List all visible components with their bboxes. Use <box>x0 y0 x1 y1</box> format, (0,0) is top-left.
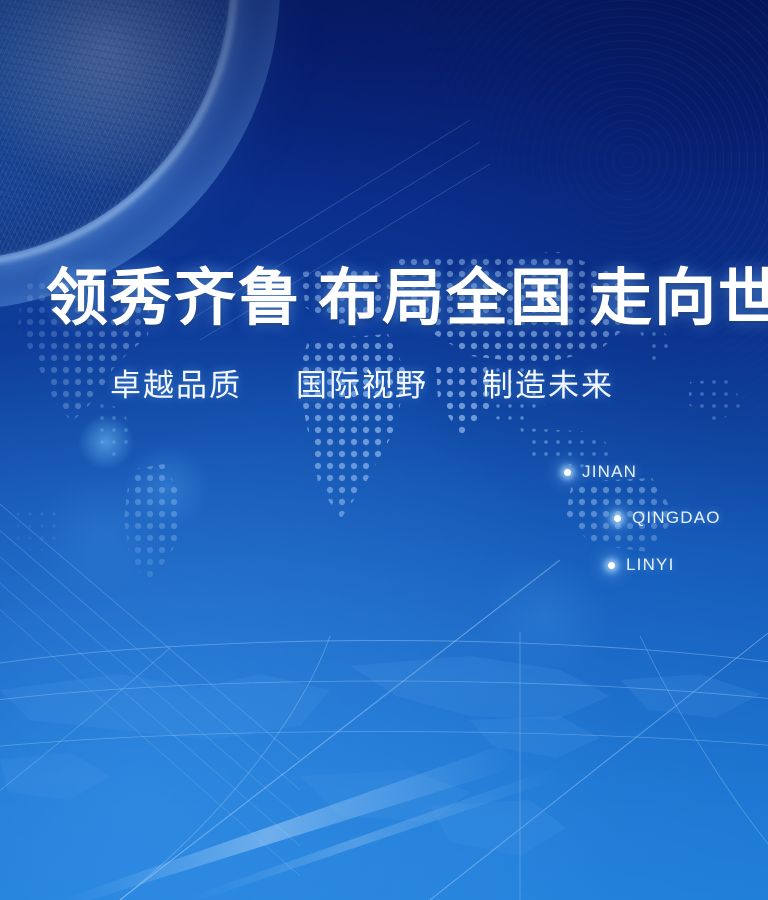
map-marker-label: LINYI <box>626 555 675 575</box>
subhead-part-3: 制造未来 <box>482 368 614 403</box>
headline-part-2: 布局全国 <box>318 265 574 333</box>
page-subtitle: 卓越品质国际视野制造未来 <box>110 370 614 401</box>
headline-part-1: 领秀齐鲁 <box>46 265 302 333</box>
location-dot-icon <box>614 515 621 522</box>
page-title: 领秀齐鲁布局全国走向世界 <box>46 268 768 330</box>
hero-banner: 领秀齐鲁布局全国走向世界 卓越品质国际视野制造未来 JINAN QINGDAO … <box>0 0 768 900</box>
map-marker-jinan[interactable]: JINAN <box>564 462 637 482</box>
headline-part-3: 走向世界 <box>590 265 768 333</box>
location-dot-icon <box>608 562 615 569</box>
subhead-part-2: 国际视野 <box>296 368 428 403</box>
map-marker-qingdao[interactable]: QINGDAO <box>614 508 721 528</box>
location-dot-icon <box>564 469 571 476</box>
subhead-part-1: 卓越品质 <box>110 368 242 403</box>
map-marker-linyi[interactable]: LINYI <box>608 555 675 575</box>
map-marker-label: QINGDAO <box>632 508 721 528</box>
map-marker-label: JINAN <box>582 462 637 482</box>
